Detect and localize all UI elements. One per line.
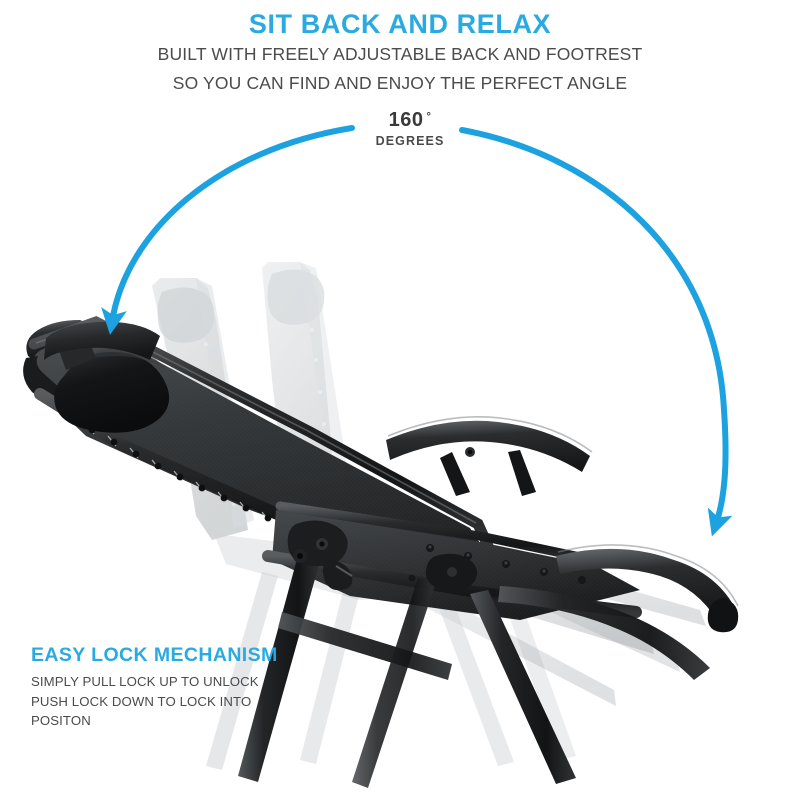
- subtitle-line-2: SO YOU CAN FIND AND ENJOY THE PERFECT AN…: [0, 73, 800, 94]
- page-title: SIT BACK AND RELAX: [0, 10, 800, 38]
- feature-callout: EASY LOCK MECHANISM SIMPLY PULL LOCK UP …: [31, 645, 361, 730]
- degree-symbol-icon: °: [426, 112, 431, 123]
- arc-right-segment: [462, 130, 726, 524]
- callout-body: SIMPLY PULL LOCK UP TO UNLOCK PUSH LOCK …: [31, 672, 361, 729]
- angle-unit-label: DEGREES: [355, 134, 465, 148]
- callout-line-3: POSITON: [31, 711, 361, 730]
- angle-label: 160° DEGREES: [355, 110, 465, 148]
- callout-line-1: SIMPLY PULL LOCK UP TO UNLOCK: [31, 672, 361, 691]
- callout-title: EASY LOCK MECHANISM: [31, 645, 361, 666]
- callout-line-2: PUSH LOCK DOWN TO LOCK INTO: [31, 692, 361, 711]
- subtitle-line-1: BUILT WITH FREELY ADJUSTABLE BACK AND FO…: [0, 44, 800, 65]
- infographic-canvas: SIT BACK AND RELAX BUILT WITH FREELY ADJ…: [0, 0, 800, 800]
- angle-value: 160: [389, 110, 424, 130]
